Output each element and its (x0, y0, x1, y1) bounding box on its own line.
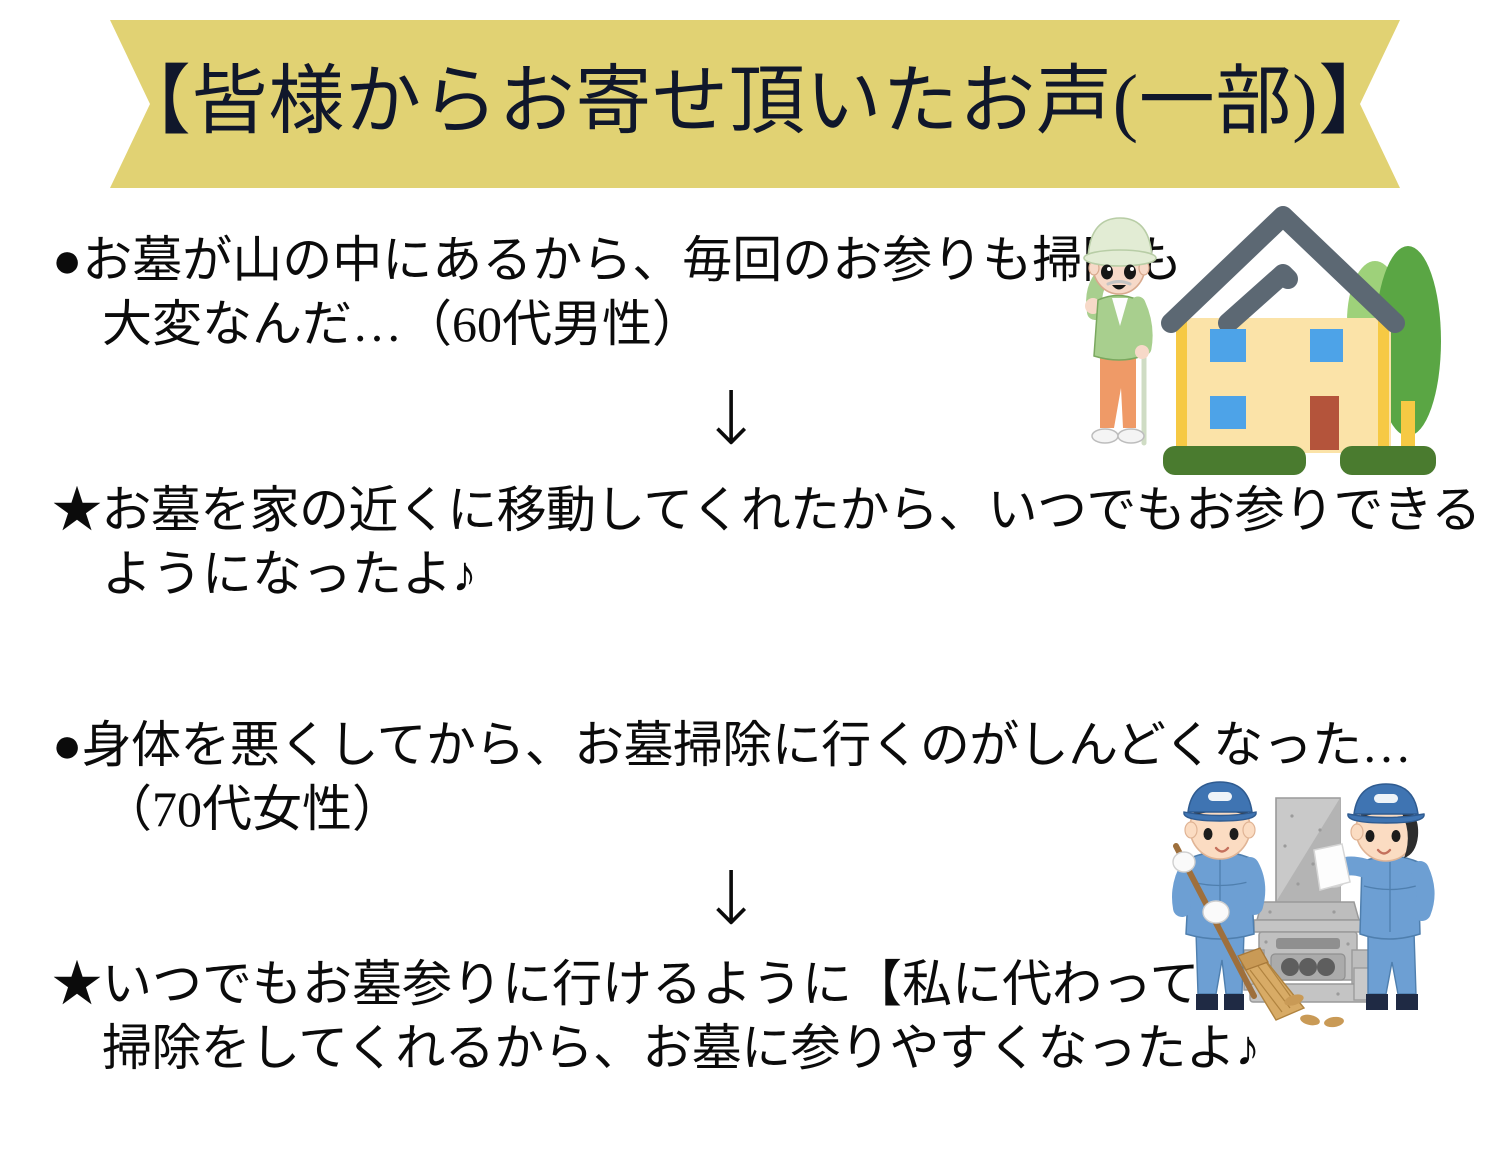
grave-cleaning-illustration (1158, 772, 1450, 1040)
testimonial-line: 掃除をしてくれるから、お墓に参りやすくなったよ♪ (52, 1016, 1260, 1080)
testimonial-line: ★お墓を家の近くに移動してくれたから、いつでもお参りできる (52, 478, 1481, 542)
title-banner: 【皆様からお寄せ頂いたお声(一部)】 (110, 20, 1400, 188)
house-illustration (1078, 196, 1450, 484)
testimonial-solution-1: ★お墓を家の近くに移動してくれたから、いつでもお参りできる ようになったよ♪ (52, 478, 1481, 606)
arrow-down-icon: ↓ (700, 862, 762, 936)
house-door (1310, 396, 1339, 450)
testimonial-problem-1: ●お墓が山の中にあるから、毎回のお参りも掃除も 大変なんだ…（60代男性） (52, 228, 1182, 356)
testimonial-line: ●身体を悪くしてから、お墓掃除に行くのがしんどくなった… (52, 713, 1411, 777)
ground-hedge (1163, 446, 1436, 475)
testimonial-solution-2: ★いつでもお墓参りに行けるように【私に代わって】 掃除をしてくれるから、お墓に参… (52, 952, 1260, 1080)
testimonial-line: ★いつでもお墓参りに行けるように【私に代わって】 (52, 952, 1260, 1016)
testimonial-line: ようになったよ♪ (52, 542, 1481, 606)
house-body (1176, 318, 1391, 453)
page-title: 【皆様からお寄せ頂いたお声(一部)】 (110, 20, 1400, 188)
testimonial-line: ●お墓が山の中にあるから、毎回のお参りも掃除も (52, 228, 1182, 292)
testimonial-line: 大変なんだ…（60代男性） (52, 292, 1182, 356)
elderly-man-figure (1084, 218, 1156, 443)
arrow-down-icon: ↓ (700, 382, 762, 456)
